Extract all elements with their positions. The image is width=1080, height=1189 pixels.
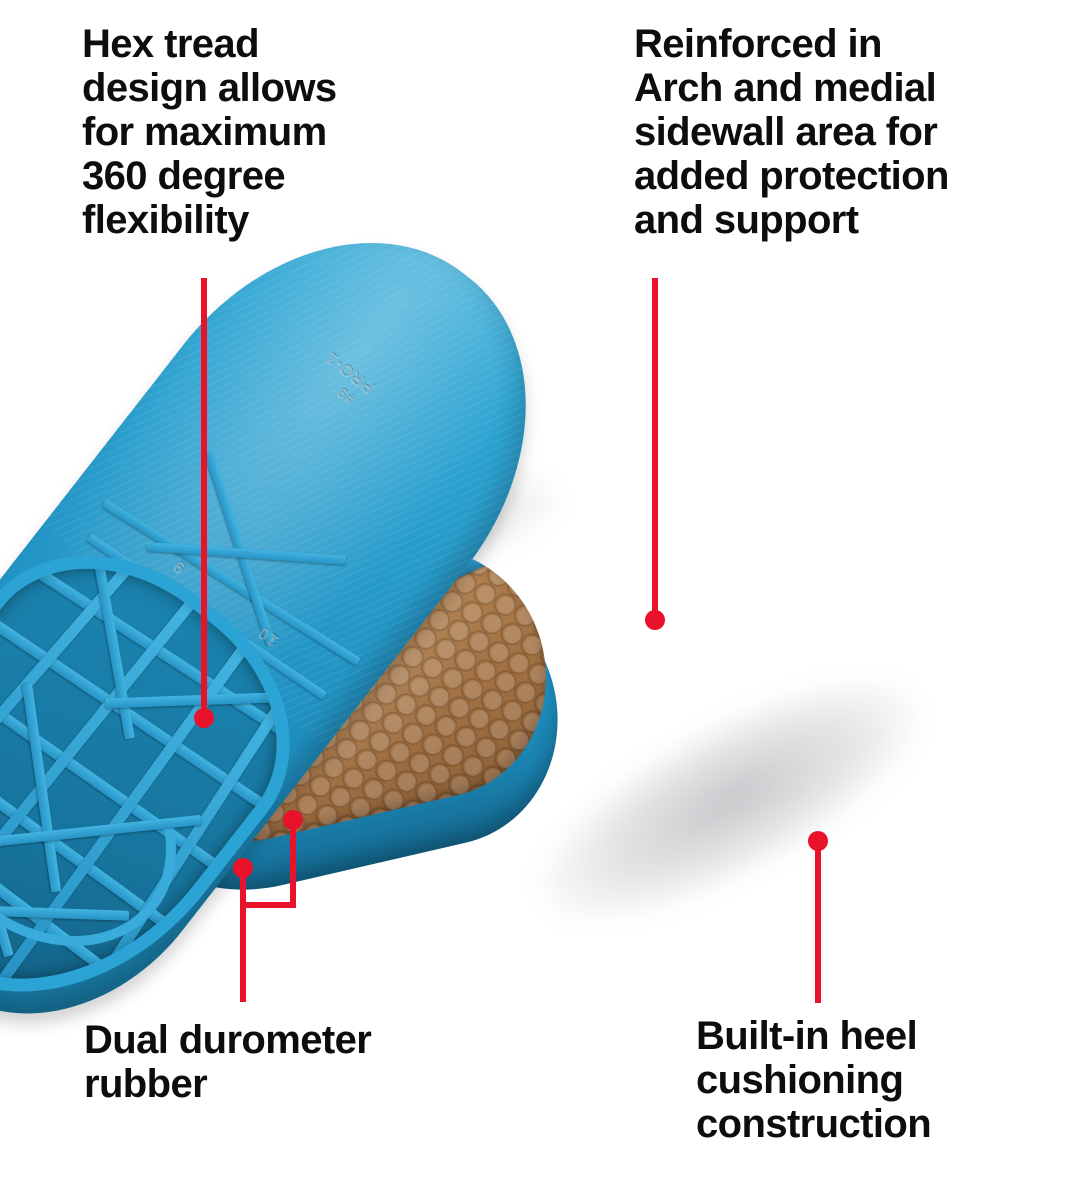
callout-label-reinforced-arch: Reinforced in Arch and medial sidewall a… (634, 22, 1044, 242)
leader-line-dual-crossbar (240, 902, 296, 908)
callout-label-heel-cushioning: Built-in heel cushioning construction (696, 1014, 1056, 1146)
leader-dot-hex-tread (194, 708, 214, 728)
leader-line-heel-cushion (815, 841, 821, 1003)
leader-dot-heel-cushion (808, 831, 828, 851)
callout-label-dual-durometer: Dual durometer rubber (84, 1018, 484, 1106)
diagram-canvas: PRO-1 #9 9 10 PRO-1 (0, 0, 1080, 1189)
sole-upper-cavity-side: PRO-1 #9 9 10 PRO-1 (0, 165, 947, 1124)
leader-line-reinforced (652, 278, 658, 622)
callout-label-hex-tread: Hex tread design allows for maximum 360 … (82, 22, 442, 242)
leader-line-dual-stem (240, 902, 246, 1002)
product-photo: PRO-1 #9 9 10 PRO-1 (0, 255, 1080, 1015)
leader-dot-dual-midsole (283, 810, 303, 830)
leader-line-hex-tread (201, 278, 207, 720)
leader-dot-dual-tread (233, 858, 253, 878)
leader-line-dual-right-stub (290, 820, 296, 908)
leader-dot-reinforced (645, 610, 665, 630)
